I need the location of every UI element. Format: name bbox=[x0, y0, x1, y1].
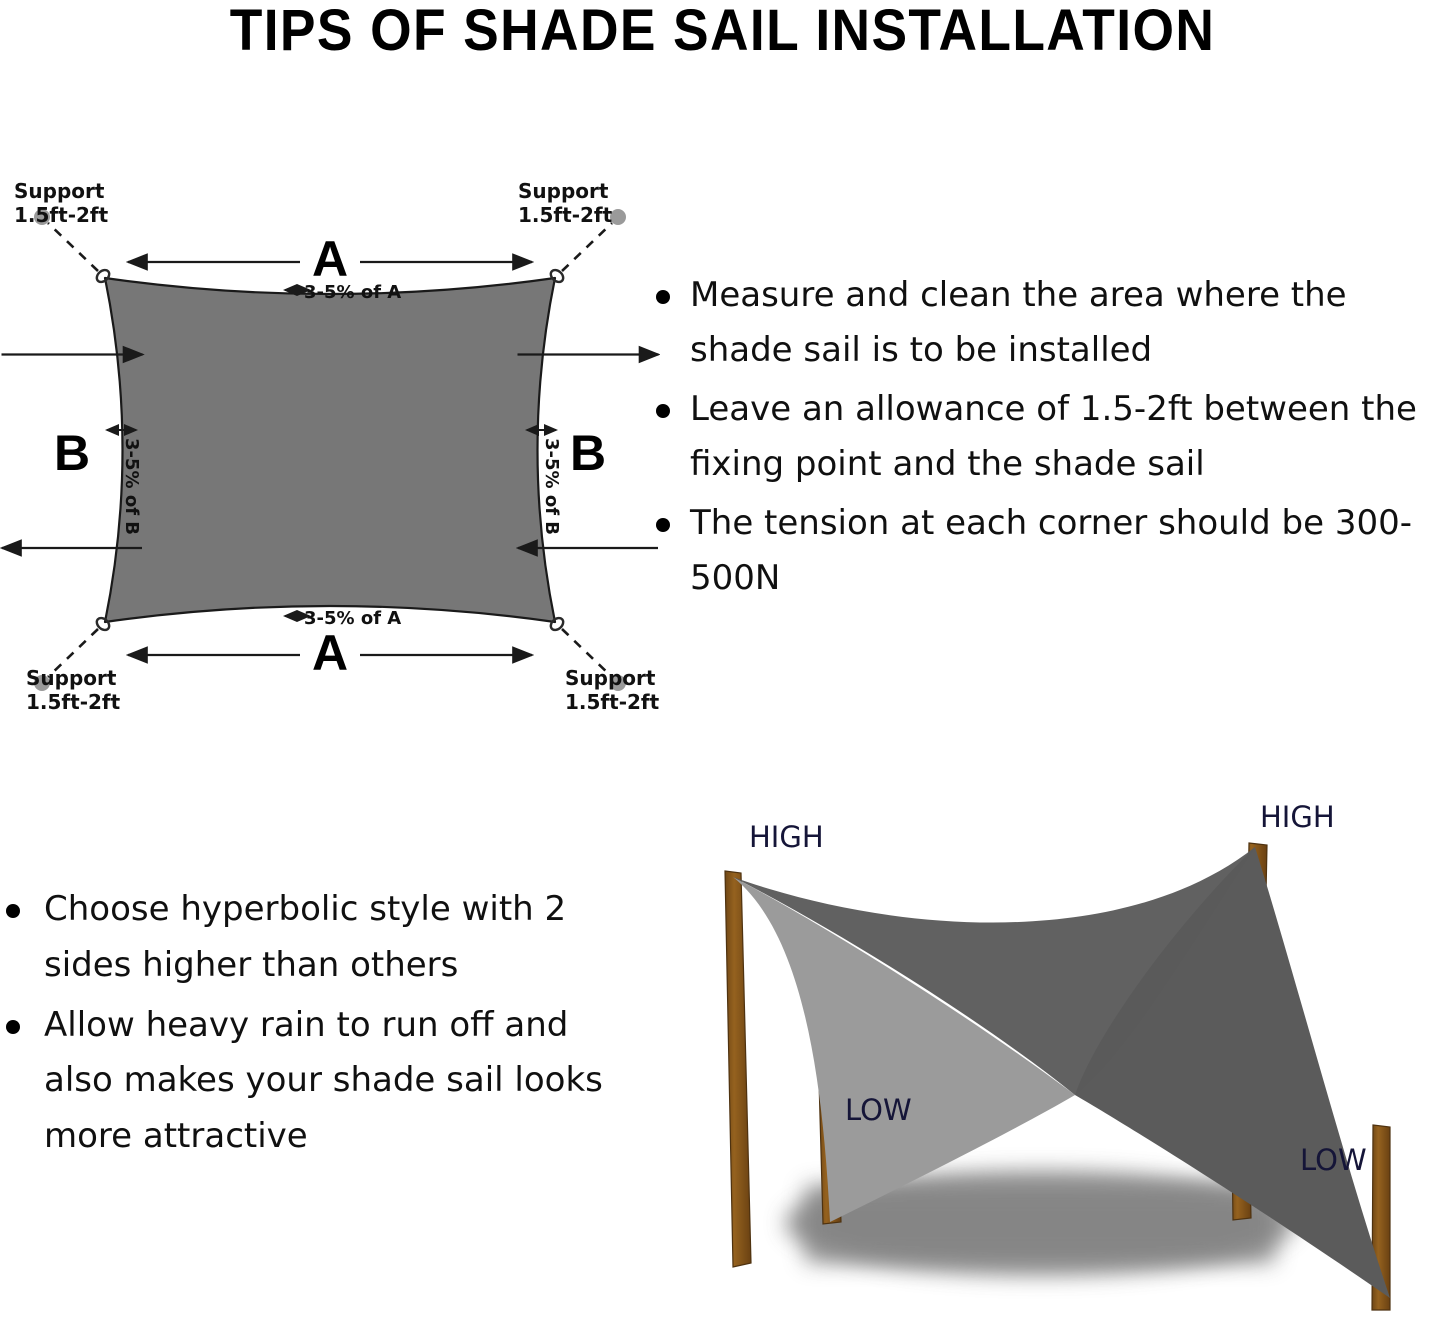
dimension-label-a-bottom: A bbox=[312, 625, 348, 681]
support-label-top-left-line1: Support bbox=[14, 179, 105, 203]
tips-bullets: Measure and clean the area where the sha… bbox=[648, 268, 1445, 606]
label-high-right: HIGH bbox=[1260, 800, 1335, 834]
sag-label-right: 3-5% of B bbox=[541, 438, 562, 535]
installation-tips-list: Measure and clean the area where the sha… bbox=[648, 268, 1445, 610]
style-bullets: Choose hyperbolic style with 2 sides hig… bbox=[0, 882, 630, 1165]
sag-label-bottom: 3-5% of A bbox=[304, 608, 401, 629]
hyperbolic-style-tips-list: Choose hyperbolic style with 2 sides hig… bbox=[0, 882, 630, 1169]
support-label-bottom-right-line2: 1.5ft-2ft bbox=[565, 690, 660, 714]
dimension-label-b-left: B bbox=[54, 425, 90, 481]
sag-label-left: 3-5% of B bbox=[121, 438, 142, 535]
list-item: Leave an allowance of 1.5-2ft between th… bbox=[648, 382, 1445, 492]
page-title: TIPS OF SHADE SAIL INSTALLATION bbox=[58, 0, 1387, 66]
dimension-label-b-right: B bbox=[570, 425, 606, 481]
hyperbolic-sail-diagram: HIGH HIGH LOW LOW bbox=[655, 785, 1445, 1319]
label-high-left: HIGH bbox=[749, 820, 824, 854]
support-label-bottom-left-line1: Support bbox=[26, 666, 117, 690]
shade-sail-shape bbox=[105, 278, 555, 622]
list-item: The tension at each corner should be 300… bbox=[648, 496, 1445, 606]
list-item: Measure and clean the area where the sha… bbox=[648, 268, 1445, 378]
support-label-top-left-line2: 1.5ft-2ft bbox=[14, 203, 109, 227]
label-low-right: LOW bbox=[1300, 1143, 1367, 1177]
support-label-top-right-line2: 1.5ft-2ft bbox=[518, 203, 613, 227]
support-label-top-right-line1: Support bbox=[518, 179, 609, 203]
label-low-left: LOW bbox=[845, 1093, 912, 1127]
pole-high-left bbox=[725, 871, 751, 1267]
support-label-bottom-left-line2: 1.5ft-2ft bbox=[26, 690, 121, 714]
sag-label-top: 3-5% of A bbox=[304, 282, 401, 303]
list-item: Choose hyperbolic style with 2 sides hig… bbox=[0, 882, 630, 994]
list-item: Allow heavy rain to run off and also mak… bbox=[0, 998, 630, 1165]
dimension-label-a-top: A bbox=[312, 231, 348, 287]
support-label-bottom-right-line1: Support bbox=[565, 666, 656, 690]
rectangular-sail-diagram: Support 1.5ft-2ft Support 1.5ft-2ft Supp… bbox=[0, 160, 660, 740]
